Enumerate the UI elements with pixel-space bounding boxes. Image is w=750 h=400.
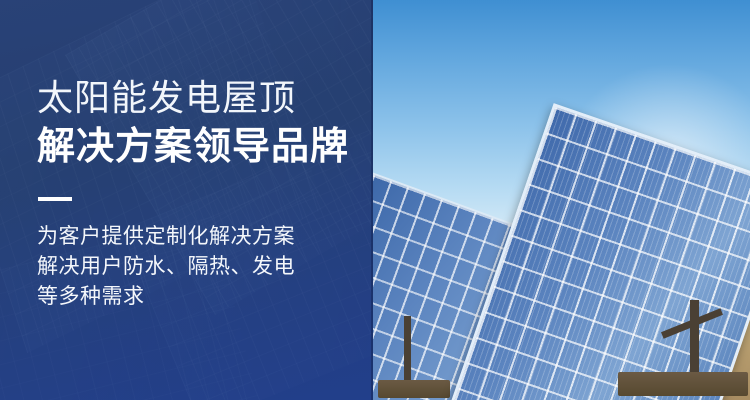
headline-line-1: 太阳能发电屋顶 — [37, 76, 296, 120]
panel-right-edge — [371, 0, 373, 400]
subtitle-line-3: 等多种需求 — [37, 282, 295, 312]
solar-promo-banner: 太阳能发电屋顶 解决方案领导品牌 为客户提供定制化解决方案 解决用户防水、隔热、… — [0, 0, 750, 400]
banner-text-content: 太阳能发电屋顶 解决方案领导品牌 为客户提供定制化解决方案 解决用户防水、隔热、… — [37, 0, 357, 400]
secondary-panel-base — [378, 380, 450, 398]
subtitle-line-2: 解决用户防水、隔热、发电 — [37, 252, 295, 282]
secondary-panel-support — [404, 316, 411, 388]
headline-line-2: 解决方案领导品牌 — [37, 124, 349, 170]
main-panel-base — [618, 372, 748, 396]
subtitle-block: 为客户提供定制化解决方案 解决用户防水、隔热、发电 等多种需求 — [37, 222, 295, 312]
subtitle-line-1: 为客户提供定制化解决方案 — [37, 222, 295, 252]
headline-divider — [38, 197, 72, 201]
